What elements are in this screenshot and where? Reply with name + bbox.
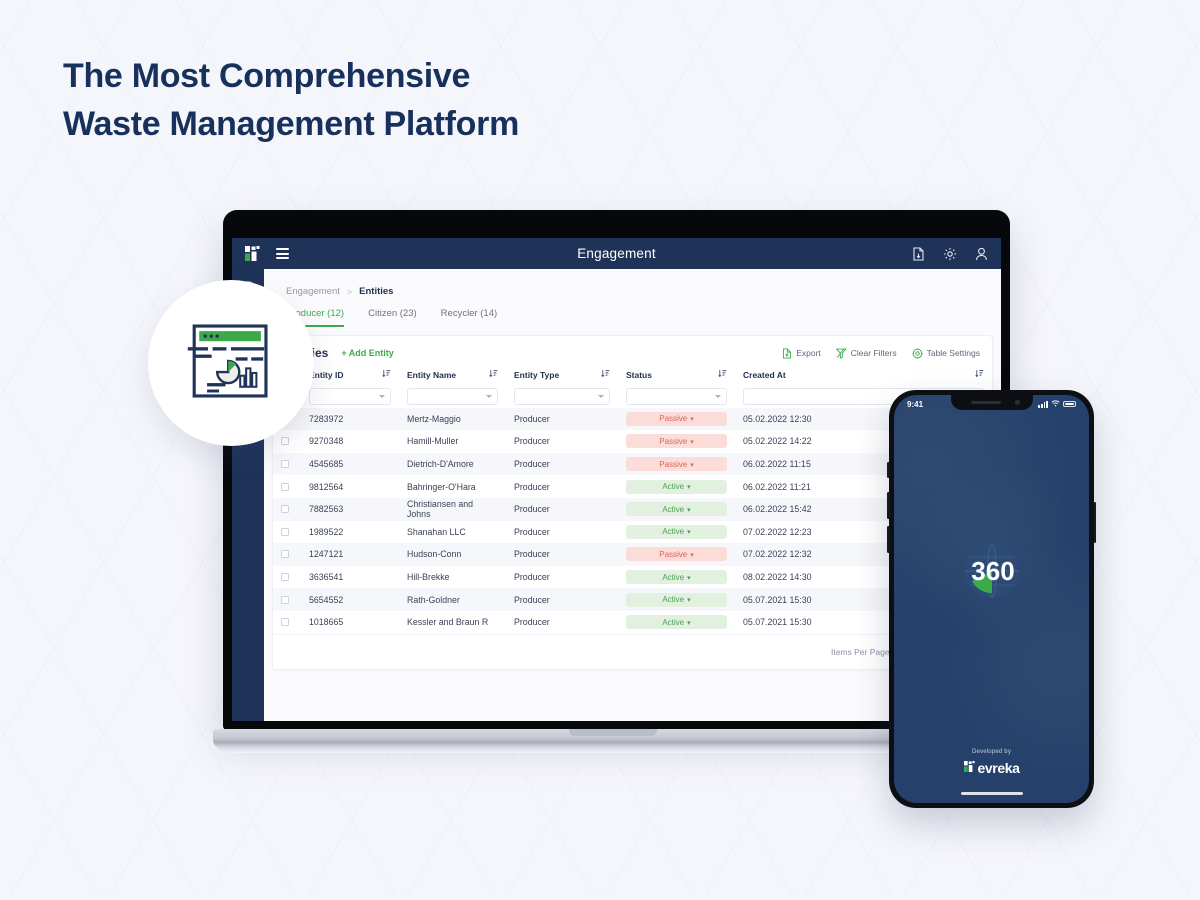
- splash-logo-text: 360: [971, 556, 1014, 586]
- filter-entity-type-select[interactable]: [514, 388, 610, 405]
- header-status[interactable]: Status: [618, 369, 735, 385]
- row-checkbox-cell: [273, 453, 301, 476]
- cell-status: Passive▾: [618, 408, 735, 431]
- filter-status-select[interactable]: [626, 388, 727, 405]
- card-header: Entities + Add Entity Export Clear Filte…: [273, 336, 992, 369]
- cell-entity-name: Hill-Brekke: [399, 566, 506, 589]
- chevron-down-icon: ▾: [687, 528, 691, 536]
- app-title: Engagement: [232, 246, 1001, 261]
- breadcrumb: Engagement > Entities: [264, 269, 1001, 297]
- table-row[interactable]: 1989522Shanahan LLCProducerActive▾07.02.…: [273, 521, 992, 544]
- table-row[interactable]: 1247121Hudson-ConnProducerPassive▾07.02.…: [273, 543, 992, 566]
- add-entity-button[interactable]: + Add Entity: [341, 348, 393, 358]
- status-badge[interactable]: Active▾: [626, 525, 727, 539]
- table-settings-label: Table Settings: [927, 348, 980, 358]
- status-time: 9:41: [907, 400, 923, 409]
- laptop-screen: Engagement: [232, 238, 1001, 721]
- chevron-down-icon: [379, 395, 385, 398]
- cell-entity-name: Kessler and Braun R: [399, 611, 506, 634]
- row-checkbox[interactable]: [281, 437, 289, 445]
- cell-entity-name: Hudson-Conn: [399, 543, 506, 566]
- breadcrumb-current: Entities: [359, 286, 393, 297]
- app-body: Engagement > Entities Producer (12) Citi…: [232, 269, 1001, 721]
- status-badge[interactable]: Passive▾: [626, 457, 727, 471]
- clear-filters-button[interactable]: Clear Filters: [836, 348, 897, 359]
- developed-by-label: Developed by: [894, 749, 1089, 755]
- table-row[interactable]: 9812564Bahringer-O'HaraProducerActive▾06…: [273, 475, 992, 498]
- chevron-down-icon: ▾: [687, 574, 691, 582]
- cell-entity-type: Producer: [506, 430, 618, 453]
- status-badge[interactable]: Active▾: [626, 502, 727, 516]
- header-status-label: Status: [626, 370, 652, 380]
- status-badge[interactable]: Active▾: [626, 570, 727, 584]
- table-row[interactable]: 5654552Rath-GoldnerProducerActive▾05.07.…: [273, 588, 992, 611]
- sort-descending-icon[interactable]: [718, 369, 727, 380]
- chevron-down-icon: ▾: [690, 461, 694, 469]
- items-per-page-label: Items Per Page:: [831, 647, 892, 657]
- chevron-down-icon: ▾: [687, 506, 691, 514]
- header-entity-id[interactable]: Entity ID: [301, 369, 399, 385]
- cell-entity-id: 1247121: [301, 543, 399, 566]
- chevron-down-icon: ▾: [687, 596, 691, 604]
- row-checkbox-cell: [273, 566, 301, 589]
- table-row[interactable]: 3636541Hill-BrekkeProducerActive▾08.02.2…: [273, 566, 992, 589]
- front-camera: [1015, 400, 1020, 405]
- chevron-down-icon: ▾: [690, 415, 694, 423]
- phone-mockup: 9:41 360: [889, 390, 1094, 808]
- cell-entity-name: Rath-Goldner: [399, 588, 506, 611]
- wifi-icon: [1051, 400, 1060, 409]
- phone-notch: [951, 395, 1033, 410]
- cell-status: Active▾: [618, 611, 735, 634]
- cell-entity-type: Producer: [506, 588, 618, 611]
- row-checkbox-cell: [273, 498, 301, 521]
- table-row[interactable]: 9270348Hamill-MullerProducerPassive▾05.0…: [273, 430, 992, 453]
- cell-entity-id: 1989522: [301, 521, 399, 544]
- row-checkbox[interactable]: [281, 550, 289, 558]
- pagination: Items Per Page: 10 1 of 21 it: [273, 634, 992, 669]
- app-topbar: Engagement: [232, 238, 1001, 269]
- chevron-down-icon: [486, 395, 492, 398]
- phone-volume-up-button[interactable]: [887, 492, 890, 519]
- header-created-at-label: Created At: [743, 370, 786, 380]
- table-head: Entity ID Entity Name: [273, 369, 992, 408]
- cell-entity-name: Bahringer-O'Hara: [399, 475, 506, 498]
- cell-entity-type: Producer: [506, 408, 618, 431]
- evreka-brand-lockup: evreka: [894, 759, 1089, 777]
- row-checkbox[interactable]: [281, 596, 289, 604]
- cell-entity-type: Producer: [506, 475, 618, 498]
- phone-silent-switch[interactable]: [887, 462, 890, 478]
- filter-status-cell: [618, 385, 735, 408]
- row-checkbox[interactable]: [281, 505, 289, 513]
- headline-line-2: Waste Management Platform: [63, 100, 519, 148]
- header-entity-type[interactable]: Entity Type: [506, 369, 618, 385]
- entity-type-tabs: Producer (12) Citizen (23) Recycler (14): [264, 297, 1001, 327]
- filter-entity-type-cell: [506, 385, 618, 408]
- row-checkbox-cell: [273, 521, 301, 544]
- status-badge[interactable]: Active▾: [626, 615, 727, 629]
- cell-entity-type: Producer: [506, 498, 618, 521]
- filter-entity-name-cell: [399, 385, 506, 408]
- cell-status: Passive▾: [618, 430, 735, 453]
- filter-entity-id-select[interactable]: [309, 388, 391, 405]
- laptop-base-notch: [569, 729, 657, 736]
- sort-descending-icon[interactable]: [382, 369, 391, 380]
- phone-screen: 9:41 360: [894, 395, 1089, 803]
- document-download-icon[interactable]: [912, 247, 925, 261]
- row-checkbox[interactable]: [281, 460, 289, 468]
- status-badge[interactable]: Active▾: [626, 480, 727, 494]
- chevron-down-icon: ▾: [687, 483, 691, 491]
- sort-descending-icon[interactable]: [489, 369, 498, 380]
- breadcrumb-separator: >: [347, 287, 352, 297]
- cell-entity-id: 3636541: [301, 566, 399, 589]
- cell-entity-type: Producer: [506, 453, 618, 476]
- row-checkbox[interactable]: [281, 573, 289, 581]
- row-checkbox-cell: [273, 475, 301, 498]
- status-badge[interactable]: Passive▾: [626, 412, 727, 426]
- table-row[interactable]: 4545685Dietrich-D'AmoreProducerPassive▾0…: [273, 453, 992, 476]
- chevron-down-icon: ▾: [690, 551, 694, 559]
- header-entity-name-label: Entity Name: [407, 370, 456, 380]
- cell-status: Active▾: [618, 521, 735, 544]
- cell-status: Passive▾: [618, 453, 735, 476]
- cell-entity-id: 9812564: [301, 475, 399, 498]
- evreka-logo-mark: [964, 759, 975, 777]
- table-body: 7283972Mertz-MaggioProducerPassive▾05.02…: [273, 408, 992, 634]
- card-actions: Export Clear Filters Table Settings: [782, 348, 980, 359]
- cell-entity-id: 4545685: [301, 453, 399, 476]
- cell-entity-name: Christiansen and Johns: [399, 498, 506, 521]
- header-created-at[interactable]: Created At: [735, 369, 992, 385]
- row-checkbox[interactable]: [281, 618, 289, 626]
- cell-status: Active▾: [618, 566, 735, 589]
- dashboard-report-badge: [148, 280, 314, 446]
- header-entity-type-label: Entity Type: [514, 370, 559, 380]
- chevron-down-icon: ▾: [690, 438, 694, 446]
- filter-entity-id-cell: [301, 385, 399, 408]
- cell-entity-id: 7882563: [301, 498, 399, 521]
- tab-recycler[interactable]: Recycler (14): [441, 308, 498, 327]
- dashboard-report-icon: [185, 315, 277, 412]
- hamburger-menu-icon[interactable]: [276, 248, 289, 259]
- cell-entity-type: Producer: [506, 543, 618, 566]
- filter-entity-name-select[interactable]: [407, 388, 498, 405]
- row-checkbox[interactable]: [281, 483, 289, 491]
- app-splash-logo: 360: [956, 535, 1028, 607]
- table-row[interactable]: 1018665Kessler and Braun RProducerActive…: [273, 611, 992, 634]
- cell-entity-name: Dietrich-D'Amore: [399, 453, 506, 476]
- sort-descending-icon[interactable]: [975, 369, 984, 380]
- phone-volume-down-button[interactable]: [887, 526, 890, 553]
- status-badge[interactable]: Active▾: [626, 593, 727, 607]
- sort-descending-icon[interactable]: [601, 369, 610, 380]
- row-checkbox-cell: [273, 588, 301, 611]
- entities-table: Entity ID Entity Name: [273, 369, 992, 634]
- headline-line-1: The Most Comprehensive: [63, 52, 519, 100]
- status-indicators: [1038, 400, 1076, 409]
- status-badge[interactable]: Passive▾: [626, 547, 727, 561]
- row-checkbox-cell: [273, 543, 301, 566]
- cell-entity-id: 9270348: [301, 430, 399, 453]
- export-label: Export: [796, 348, 821, 358]
- table-settings-button[interactable]: Table Settings: [912, 348, 980, 359]
- cell-entity-name: Hamill-Muller: [399, 430, 506, 453]
- cell-entity-type: Producer: [506, 611, 618, 634]
- cell-entity-name: Shanahan LLC: [399, 521, 506, 544]
- export-button[interactable]: Export: [782, 348, 821, 359]
- table-header-row: Entity ID Entity Name: [273, 369, 992, 385]
- chevron-down-icon: [715, 395, 721, 398]
- cell-entity-id: 1018665: [301, 611, 399, 634]
- home-indicator[interactable]: [961, 792, 1023, 795]
- battery-full-icon: [1063, 401, 1076, 408]
- row-checkbox[interactable]: [281, 528, 289, 536]
- cell-entity-id: 7283972: [301, 408, 399, 431]
- evreka-wordmark: evreka: [978, 760, 1020, 776]
- table-row[interactable]: 7283972Mertz-MaggioProducerPassive▾05.02…: [273, 408, 992, 431]
- splash-footer: Developed by evreka: [894, 749, 1089, 777]
- page-title: The Most Comprehensive Waste Management …: [63, 52, 519, 149]
- cellular-bars-icon: [1038, 401, 1048, 408]
- earpiece-speaker: [971, 401, 1001, 405]
- table-row[interactable]: 7882563Christiansen and JohnsProducerAct…: [273, 498, 992, 521]
- header-entity-id-label: Entity ID: [309, 370, 343, 380]
- entities-card: Entities + Add Entity Export Clear Filte…: [272, 335, 993, 670]
- status-badge[interactable]: Passive▾: [626, 434, 727, 448]
- chevron-down-icon: ▾: [687, 619, 691, 627]
- cell-status: Active▾: [618, 475, 735, 498]
- phone-power-button[interactable]: [1094, 502, 1097, 543]
- header-entity-name[interactable]: Entity Name: [399, 369, 506, 385]
- cell-entity-type: Producer: [506, 566, 618, 589]
- breadcrumb-root[interactable]: Engagement: [286, 286, 340, 297]
- topbar-actions: [912, 247, 988, 261]
- evreka-logo-mark[interactable]: [245, 246, 260, 261]
- cell-entity-name: Mertz-Maggio: [399, 408, 506, 431]
- cell-entity-type: Producer: [506, 521, 618, 544]
- clear-filters-label: Clear Filters: [851, 348, 897, 358]
- gear-icon[interactable]: [943, 247, 957, 261]
- tab-citizen[interactable]: Citizen (23): [368, 308, 417, 327]
- row-checkbox-cell: [273, 430, 301, 453]
- cell-status: Active▾: [618, 588, 735, 611]
- user-icon[interactable]: [975, 247, 988, 261]
- cell-entity-id: 5654552: [301, 588, 399, 611]
- row-checkbox-cell: [273, 611, 301, 634]
- chevron-down-icon: [598, 395, 604, 398]
- table-filter-row: [273, 385, 992, 408]
- cell-status: Passive▾: [618, 543, 735, 566]
- cell-status: Active▾: [618, 498, 735, 521]
